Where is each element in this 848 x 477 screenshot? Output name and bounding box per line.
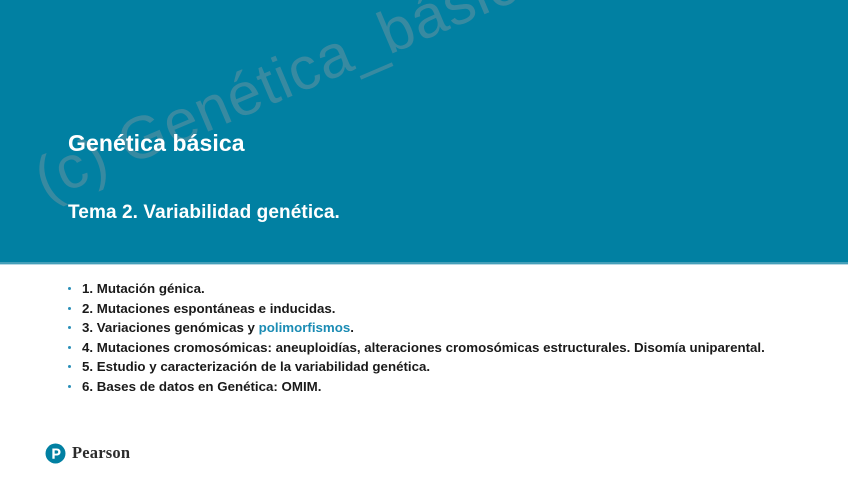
pearson-p-icon [45,443,66,464]
bullet-dot-icon [68,287,71,290]
list-item: 1. Mutación génica. [64,280,804,299]
course-title: Genética básica [68,131,708,157]
list-item: 6. Bases de datos en Genética: OMIM. [64,378,804,397]
pearson-wordmark: Pearson [72,445,130,462]
list-item: 3. Variaciones genómicas y polimorfismos… [64,319,804,338]
list-item-label: 1. Mutación génica. [82,281,205,296]
presentation-slide: (c) Genética_básica_2024 Genética básica… [0,0,848,477]
list-item: 5. Estudio y caracterización de la varia… [64,358,804,377]
title-block: Genética básica Tema 2. Variabilidad gen… [68,131,708,224]
list-item-label: 5. Estudio y caracterización de la varia… [82,359,430,374]
list-item: 2. Mutaciones espontáneas e inducidas. [64,300,804,319]
bullet-dot-icon [68,307,71,310]
bullet-dot-icon [68,385,71,388]
pearson-logo: Pearson [45,443,130,464]
list-item-label: 4. Mutaciones cromosómicas: aneuploidías… [82,340,765,355]
outline-list: 1. Mutación génica. 2. Mutaciones espont… [64,280,804,398]
list-item-accent-term: polimorfismos [259,320,351,335]
list-item-label-tail: . [350,320,354,335]
list-item-label: 3. Variaciones genómicas y [82,320,259,335]
list-item-label: 6. Bases de datos en Genética: OMIM. [82,379,321,394]
list-item-label: 2. Mutaciones espontáneas e inducidas. [82,301,335,316]
list-item: 4. Mutaciones cromosómicas: aneuploidías… [64,339,804,358]
bullet-dot-icon [68,365,71,368]
unit-title: Tema 2. Variabilidad genética. [68,202,708,224]
bullet-dot-icon [68,346,71,349]
bullet-dot-icon [68,326,71,329]
